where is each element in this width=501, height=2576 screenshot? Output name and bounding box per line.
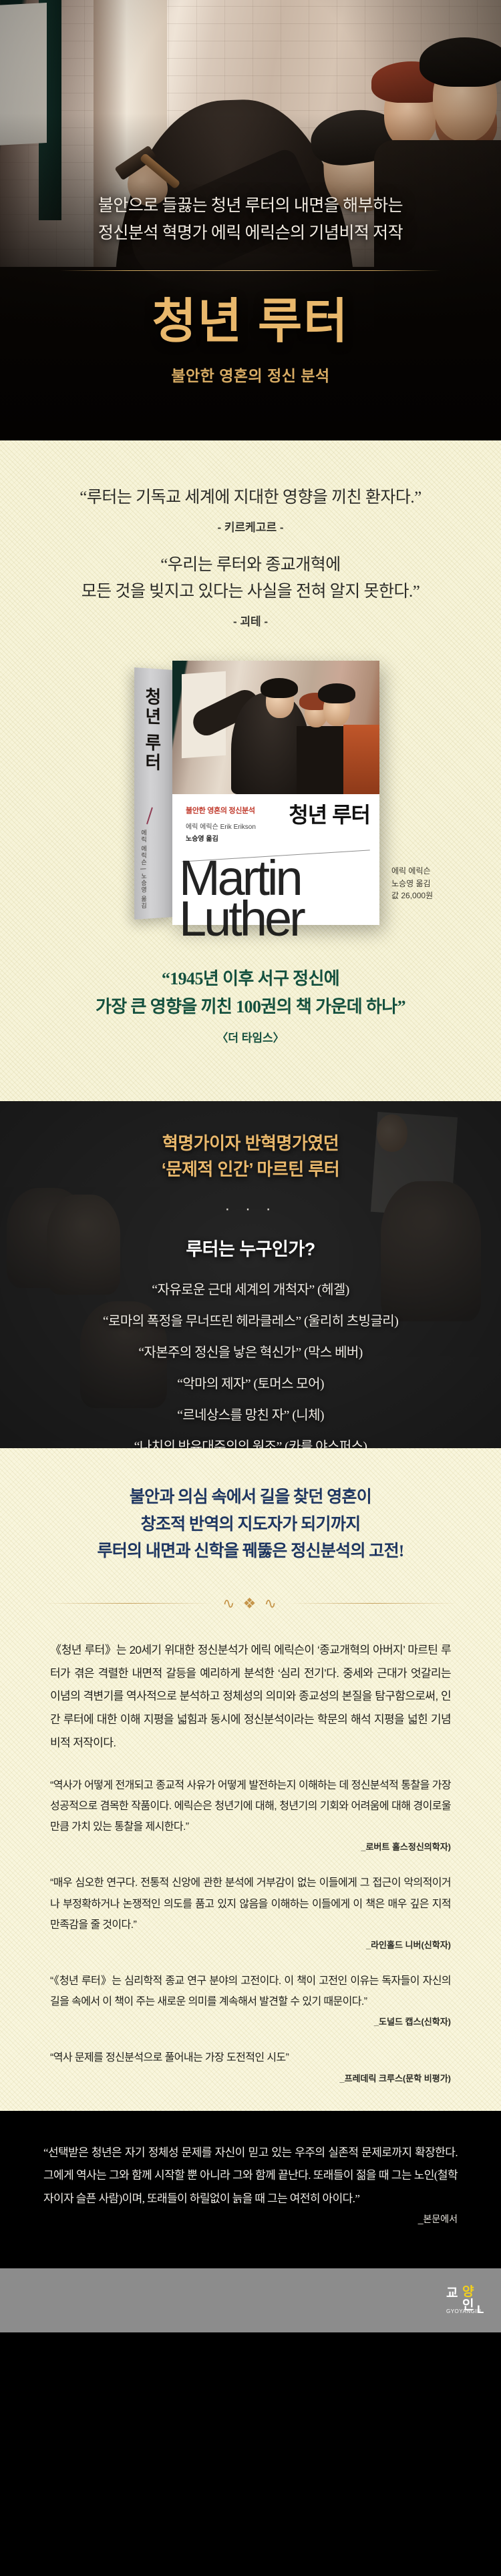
hero-copy: 불안으로 들끓는 청년 루터의 내면을 해부하는 정신분석 혁명가 에릭 에릭슨… bbox=[0, 192, 501, 386]
quote-text-line-2: 모든 것을 빚지고 있다는 사실을 전혀 알지 못한다.” bbox=[0, 579, 501, 605]
final-quote-text: “선택받은 청년은 자기 정체성 문제를 자신이 믿고 있는 우주의 실존적 문… bbox=[43, 2142, 458, 2212]
final-quote-citation: _본문에서 bbox=[43, 2212, 458, 2226]
spine-title: 청년 루터 bbox=[142, 687, 164, 773]
gold-divider bbox=[60, 270, 441, 271]
publisher-logo-icon[interactable]: 교 양 인 GYOYANGIN L bbox=[446, 2283, 485, 2319]
blurb-text: “역사가 어떻게 전개되고 종교적 사유가 어떻게 발전하는지 이해하는 데 정… bbox=[50, 1775, 451, 1838]
cover-author: 에릭 에릭슨 Erik Erikson bbox=[186, 821, 256, 831]
cover-title: 청년 루터 bbox=[289, 798, 370, 829]
luther-descriptions-list: “자유로운 근대 세계의 개척자” (헤겔) “로마의 폭정을 무너뜨린 헤라클… bbox=[0, 1282, 501, 1448]
times-quote-line-1: “1945년 이후 서구 정신에 bbox=[0, 965, 501, 993]
list-item: “나치의 반유대주의의 원조” (카를 야스퍼스) bbox=[0, 1439, 501, 1448]
list-item: “악마의 제자” (토머스 모어) bbox=[0, 1376, 501, 1392]
logo-char-l: L bbox=[477, 2303, 484, 2316]
blurb-citation: _로버트 홀스정신의학자) bbox=[50, 1840, 451, 1853]
logo-char-1: 교 bbox=[446, 2283, 458, 2301]
quote-text-line-1: “우리는 루터와 종교개혁에 bbox=[0, 552, 501, 579]
book-promo-page: 불안으로 들끓는 청년 루터의 내면을 해부하는 정신분석 혁명가 에릭 에릭슨… bbox=[0, 0, 501, 2332]
dark-heading-line-2: ‘문제적 인간’ 마르틴 루터 bbox=[0, 1157, 501, 1183]
dark-question: 루터는 누구인가? bbox=[0, 1235, 501, 1261]
blurb-citation: _도널드 캡스(신학자) bbox=[50, 2015, 451, 2027]
cover-subtitle: 불안한 영혼의 정신분석 bbox=[186, 805, 255, 816]
book-meta: 에릭 에릭슨 노승영 옮김 값 26,000원 bbox=[391, 865, 433, 902]
spine-subtitle: 에릭 에릭슨 | 노승영 옮김 bbox=[140, 830, 148, 910]
description-heading: 불안과 의심 속에서 길을 찾던 영혼이 창조적 반역의 지도자가 되기까지 루… bbox=[0, 1484, 501, 1566]
cover-translator: 노승영 옮김 bbox=[186, 833, 218, 843]
quote-citation: - 키르케고르 - bbox=[0, 518, 501, 535]
quote-goethe: “우리는 루터와 종교개혁에 모든 것을 빚지고 있다는 사실을 전혀 알지 못… bbox=[0, 535, 501, 629]
cover-big-name-2: Luther bbox=[179, 899, 303, 940]
list-item: “자본주의 정신을 낳은 혁신가” (막스 베버) bbox=[0, 1345, 501, 1361]
hero-tagline-1: 불안으로 들끓는 청년 루터의 내면을 해부하는 bbox=[0, 192, 501, 220]
quote-kierkegaard: “루터는 기독교 세계에 지대한 영향을 끼친 환자다.” - 키르케고르 - bbox=[0, 440, 501, 535]
blurb: “역사가 어떻게 전개되고 종교적 사유가 어떻게 발전하는지 이해하는 데 정… bbox=[50, 1775, 451, 1853]
page-subtitle: 불안한 영혼의 정신 분석 bbox=[0, 363, 501, 386]
meta-price: 값 26,000원 bbox=[391, 890, 433, 902]
book-spine: 청년 루터 에릭 에릭슨 | 노승영 옮김 bbox=[134, 667, 174, 920]
book-cover-photo: 청년 루터 에릭 에릭슨 | 노승영 옮김 불안한 영혼의 정신분석 청년 루터 bbox=[0, 645, 501, 932]
cover-big-name: Martin Luther bbox=[179, 858, 303, 939]
dark-heading-line-1: 혁명가이자 반혁명가였던 bbox=[0, 1131, 501, 1157]
times-quote-line-2: 가장 큰 영향을 끼친 100권의 책 가운데 하나” bbox=[0, 993, 501, 1021]
hero-section: 불안으로 들끓는 청년 루터의 내면을 해부하는 정신분석 혁명가 에릭 에릭슨… bbox=[0, 0, 501, 440]
cover-author-en: Erik Erikson bbox=[220, 824, 256, 831]
ornament-line-left bbox=[43, 1603, 213, 1604]
logo-romanization: GYOYANGIN bbox=[446, 2308, 481, 2314]
who-is-luther-section: 혁명가이자 반혁명가였던 ‘문제적 인간’ 마르틴 루터 · · · 루터는 누… bbox=[0, 1101, 501, 1448]
quote-the-times: “1945년 이후 서구 정신에 가장 큰 영향을 끼친 100권의 책 가운데… bbox=[0, 932, 501, 1101]
description-heading-line-3: 루터의 내면과 신학을 꿰뚫은 정신분석의 고전! bbox=[0, 1538, 501, 1566]
blurb: “《청년 루터》는 심리학적 종교 연구 분야의 고전이다. 이 책이 고전인 … bbox=[50, 1971, 451, 2027]
blurb-citation: _프레데릭 크루스(문학 비평가) bbox=[50, 2071, 451, 2084]
cover-author-ko: 에릭 에릭슨 bbox=[186, 824, 218, 831]
blurb: “매우 심오한 연구다. 전통적 신앙에 관한 분석에 거부감이 없는 이들에게… bbox=[50, 1873, 451, 1951]
meta-author: 에릭 에릭슨 bbox=[391, 865, 433, 878]
quotes-and-book-section: “루터는 기독교 세계에 지대한 영향을 끼친 환자다.” - 키르케고르 - … bbox=[0, 440, 501, 1101]
cover-artwork bbox=[172, 661, 379, 794]
blurb: “역사 문제를 정신분석으로 풀어내는 가장 도전적인 시도” _프레데릭 크루… bbox=[50, 2047, 451, 2083]
footer: 교 양 인 GYOYANGIN L bbox=[0, 2268, 501, 2332]
spine-accent-mark bbox=[146, 808, 153, 825]
hero-tagline-2: 정신분석 혁명가 에릭 에릭슨의 기념비적 저작 bbox=[0, 220, 501, 247]
blurb-citation: _라인홀드 니버(신학자) bbox=[50, 1938, 451, 1951]
quote-text: “루터는 기독교 세계에 지대한 영향을 끼친 환자다.” bbox=[0, 485, 501, 511]
description-section: 불안과 의심 속에서 길을 찾던 영혼이 창조적 반역의 지도자가 되기까지 루… bbox=[0, 1448, 501, 2110]
ornament-diamond-icon: ∿ ❖ ∿ bbox=[222, 1595, 279, 1612]
list-item: “자유로운 근대 세계의 개척자” (헤겔) bbox=[0, 1282, 501, 1298]
list-item: “르네상스를 망친 자” (니체) bbox=[0, 1407, 501, 1423]
ornament-line-right bbox=[288, 1603, 458, 1604]
description-body: 《청년 루터》는 20세기 위대한 정신분석가 에릭 에릭슨이 ‘종교개혁의 아… bbox=[50, 1639, 451, 1755]
book-front-cover: 불안한 영혼의 정신분석 청년 루터 에릭 에릭슨 Erik Erikson 노… bbox=[172, 661, 379, 925]
quote-citation: - 괴테 - bbox=[0, 612, 501, 629]
page-title: 청년 루터 bbox=[0, 298, 501, 346]
blurb-text: “매우 심오한 연구다. 전통적 신앙에 관한 분석에 거부감이 없는 이들에게… bbox=[50, 1873, 451, 1935]
meta-translator: 노승영 옮김 bbox=[391, 878, 433, 890]
description-heading-line-2: 창조적 반역의 지도자가 되기까지 bbox=[0, 1512, 501, 1539]
dots-separator: · · · bbox=[0, 1200, 501, 1219]
ornament-divider: ∿ ❖ ∿ bbox=[43, 1595, 458, 1612]
times-quote-citation: 〈더 타임스〉 bbox=[0, 1028, 501, 1045]
blurb-text: “《청년 루터》는 심리학적 종교 연구 분야의 고전이다. 이 책이 고전인 … bbox=[50, 1971, 451, 2012]
list-item: “로마의 폭정을 무너뜨린 헤라클레스” (울리히 츠빙글리) bbox=[0, 1313, 501, 1329]
blurb-text: “역사 문제를 정신분석으로 풀어내는 가장 도전적인 시도” bbox=[50, 2047, 451, 2068]
final-quote-section: “선택받은 청년은 자기 정체성 문제를 자신이 믿고 있는 우주의 실존적 문… bbox=[0, 2111, 501, 2269]
description-heading-line-1: 불안과 의심 속에서 길을 찾던 영혼이 bbox=[0, 1484, 501, 1512]
